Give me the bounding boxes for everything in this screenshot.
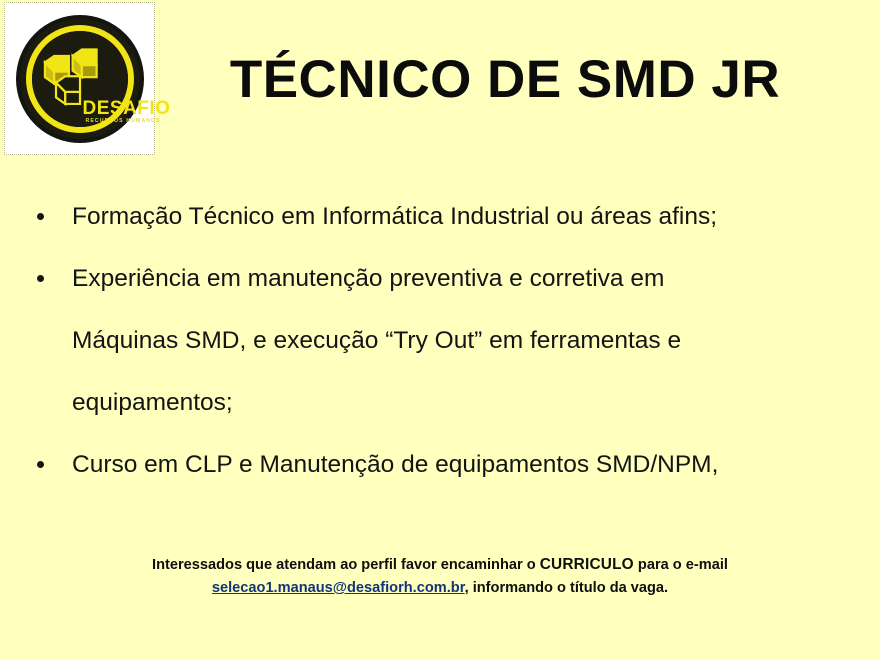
list-item-label: Formação Técnico em Informática Industri… xyxy=(72,186,866,248)
bullet-dot-icon xyxy=(37,213,44,220)
footer-line2: selecao1.manaus@desafiorh.com.br, inform… xyxy=(0,577,880,600)
logo-tagline-text: RECURSOS HUMANOS xyxy=(86,119,161,124)
email-link[interactable]: selecao1.manaus@desafiorh.com.br xyxy=(212,580,465,596)
list-item-label-cont: equipamentos; xyxy=(72,372,866,434)
list-item: Experiência em manutenção preventiva e c… xyxy=(26,248,866,434)
bullet-dot-icon xyxy=(37,461,44,468)
logo-brand-text: DESAFIO xyxy=(83,99,171,118)
footer-instructions: Interessados que atendam ao perfil favor… xyxy=(0,553,880,600)
requirements-list: Formação Técnico em Informática Industri… xyxy=(26,186,866,496)
footer-line2-after: , informando o título da vaga. xyxy=(465,580,669,596)
slide-canvas: DESAFIO RECURSOS HUMANOS TÉCNICO DE SMD … xyxy=(0,0,880,660)
page-title: TÉCNICO DE SMD JR xyxy=(175,52,835,108)
footer-line1-after: para o e-mail xyxy=(634,557,728,573)
footer-curriculo-emphasis: CURRICULO xyxy=(540,556,634,573)
desafio-logo-icon: DESAFIO RECURSOS HUMANOS xyxy=(16,15,144,143)
logo-disc: DESAFIO RECURSOS HUMANOS xyxy=(32,31,128,127)
footer-line1-before: Interessados que atendam ao perfil favor… xyxy=(152,557,540,573)
list-item: Formação Técnico em Informática Industri… xyxy=(26,186,866,248)
logo-frame: DESAFIO RECURSOS HUMANOS xyxy=(4,2,155,155)
list-item-label-cont: Máquinas SMD, e execução “Try Out” em fe… xyxy=(72,310,866,372)
list-item-label: Experiência em manutenção preventiva e c… xyxy=(72,248,866,310)
list-item: Curso em CLP e Manutenção de equipamento… xyxy=(26,434,866,496)
list-item-label: Curso em CLP e Manutenção de equipamento… xyxy=(72,434,866,496)
bullet-dot-icon xyxy=(37,275,44,282)
